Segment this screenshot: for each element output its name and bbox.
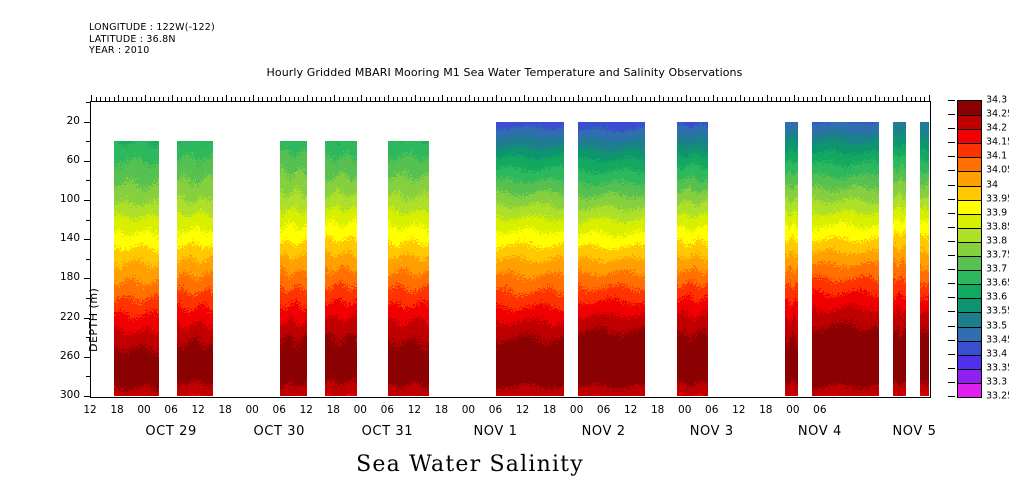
colorbar-tick: [948, 213, 955, 214]
x-tick: [208, 97, 209, 102]
x-tick: [348, 97, 349, 102]
colorbar-separator: [958, 355, 981, 356]
colorbar-label: 33.4: [986, 348, 1007, 359]
x-tick: [294, 97, 295, 102]
x-tick: [717, 97, 718, 102]
x-tick: [438, 97, 439, 102]
x-tick: [681, 97, 682, 102]
x-tick: [762, 97, 763, 102]
x-tick: [271, 97, 272, 102]
colorbar-band: [958, 369, 981, 384]
x-tick: [226, 95, 227, 102]
colorbar-tick: [948, 297, 955, 298]
x-tick: [645, 97, 646, 102]
x-tick: [415, 95, 416, 102]
colorbar-label: 34.1: [986, 151, 1007, 162]
colorbar-band: [958, 312, 981, 327]
x-tick: [501, 97, 502, 102]
y-tick: [86, 220, 91, 221]
x-tick: [875, 95, 876, 102]
x-tick: [330, 97, 331, 102]
colorbar-band: [958, 341, 981, 356]
x-tick: [789, 97, 790, 102]
x-tick: [249, 97, 250, 102]
x-tick: [285, 97, 286, 102]
y-tick: [84, 122, 91, 123]
colorbar-band: [958, 284, 981, 299]
y-tick: [86, 102, 91, 103]
y-axis-label: 180: [46, 271, 80, 283]
x-axis-hour-label: 00: [462, 404, 475, 416]
colorbar-label: 34.15: [986, 137, 1009, 148]
colorbar-band: [958, 200, 981, 215]
colorbar-tick: [948, 269, 955, 270]
x-axis-hour-label: 18: [218, 404, 231, 416]
x-tick: [821, 95, 822, 102]
x-tick: [920, 97, 921, 102]
x-tick: [451, 97, 452, 102]
x-tick: [141, 97, 142, 102]
x-tick: [600, 97, 601, 102]
x-tick: [596, 97, 597, 102]
x-tick: [614, 97, 615, 102]
colorbar-separator: [958, 341, 981, 342]
x-axis-hour-label: 00: [678, 404, 691, 416]
x-tick: [253, 95, 254, 102]
x-tick: [740, 95, 741, 102]
x-tick: [794, 95, 795, 102]
x-tick: [924, 97, 925, 102]
x-tick: [897, 97, 898, 102]
colorbar-label: 33.85: [986, 221, 1009, 232]
salinity-heatmap: [91, 102, 929, 396]
colorbar-separator: [958, 369, 981, 370]
colorbar-separator: [958, 270, 981, 271]
x-tick: [560, 97, 561, 102]
x-axis-date-label: NOV 4: [798, 424, 842, 439]
x-tick: [447, 97, 448, 102]
colorbar-band: [958, 256, 981, 271]
y-tick: [86, 180, 91, 181]
x-axis-date-label: NOV 2: [582, 424, 626, 439]
y-axis-label: 100: [46, 193, 80, 205]
x-tick: [915, 97, 916, 102]
colorbar-tick: [948, 241, 955, 242]
x-tick: [888, 97, 889, 102]
x-tick: [758, 97, 759, 102]
x-tick: [231, 97, 232, 102]
x-tick: [312, 97, 313, 102]
x-tick: [780, 97, 781, 102]
year-text: YEAR : 2010: [89, 45, 150, 56]
colorbar-band: [958, 157, 981, 172]
x-axis-hour-label: 06: [273, 404, 286, 416]
chart-title: Hourly Gridded MBARI Mooring M1 Sea Wate…: [0, 66, 1009, 79]
x-axis-hour-label: 06: [597, 404, 610, 416]
x-tick: [564, 97, 565, 102]
x-tick: [379, 97, 380, 102]
x-tick: [893, 97, 894, 102]
x-tick: [555, 97, 556, 102]
x-axis-hour-label: 18: [327, 404, 340, 416]
x-tick: [776, 97, 777, 102]
y-tick: [84, 278, 91, 279]
x-tick: [542, 97, 543, 102]
x-tick: [397, 97, 398, 102]
x-tick: [244, 97, 245, 102]
x-tick: [839, 97, 840, 102]
x-tick: [618, 97, 619, 102]
colorbar-separator: [958, 312, 981, 313]
x-axis-hour-label: 12: [191, 404, 204, 416]
colorbar-label: 33.6: [986, 292, 1007, 303]
x-tick: [654, 97, 655, 102]
heatmap-canvas-wrap: [91, 102, 929, 396]
x-axis-hour-label: 12: [408, 404, 421, 416]
x-axis-hour-label: 12: [300, 404, 313, 416]
x-tick: [735, 97, 736, 102]
y-tick: [84, 239, 91, 240]
x-tick: [591, 97, 592, 102]
colorbar-label: 34: [986, 179, 998, 190]
x-tick: [114, 97, 115, 102]
x-tick: [478, 97, 479, 102]
x-tick: [830, 97, 831, 102]
x-tick: [866, 97, 867, 102]
colorbar-label: 33.8: [986, 235, 1007, 246]
x-axis-hour-label: 06: [381, 404, 394, 416]
x-tick: [186, 97, 187, 102]
colorbar-label: 33.95: [986, 193, 1009, 204]
x-tick: [258, 97, 259, 102]
y-tick: [86, 141, 91, 142]
x-tick: [659, 95, 660, 102]
colorbar-tick: [948, 114, 955, 115]
x-tick: [605, 95, 606, 102]
y-axis-label: 140: [46, 232, 80, 244]
x-tick: [569, 97, 570, 102]
x-tick: [429, 97, 430, 102]
y-axis-label: 260: [46, 350, 80, 362]
colorbar-separator: [958, 200, 981, 201]
x-tick: [222, 97, 223, 102]
x-tick: [357, 97, 358, 102]
x-tick: [109, 97, 110, 102]
colorbar-tick: [948, 185, 955, 186]
x-tick: [510, 97, 511, 102]
x-tick: [424, 97, 425, 102]
colorbar-label: 33.35: [986, 362, 1009, 373]
x-tick: [627, 97, 628, 102]
x-tick: [505, 97, 506, 102]
colorbar-separator: [958, 228, 981, 229]
colorbar-band: [958, 270, 981, 285]
colorbar-label: 33.25: [986, 391, 1009, 402]
x-tick: [132, 97, 133, 102]
x-tick: [726, 97, 727, 102]
x-tick: [105, 97, 106, 102]
y-axis-label: 20: [46, 115, 80, 127]
x-tick: [483, 97, 484, 102]
y-tick: [84, 357, 91, 358]
y-tick: [86, 337, 91, 338]
x-axis-date-label: NOV 3: [690, 424, 734, 439]
colorbar-tick: [948, 354, 955, 355]
colorbar-band: [958, 228, 981, 243]
x-tick: [100, 97, 101, 102]
colorbar-label: 33.55: [986, 306, 1009, 317]
colorbar-band: [958, 383, 981, 398]
x-tick: [303, 97, 304, 102]
colorbar-tick: [948, 100, 955, 101]
colorbar-tick: [948, 255, 955, 256]
y-tick: [86, 259, 91, 260]
x-axis-hour-label: 00: [786, 404, 799, 416]
x-tick: [785, 97, 786, 102]
x-tick: [154, 97, 155, 102]
y-tick: [86, 298, 91, 299]
colorbar-band: [958, 186, 981, 201]
x-tick: [465, 97, 466, 102]
x-tick: [118, 95, 119, 102]
x-tick: [708, 97, 709, 102]
x-axis-hour-label: 18: [435, 404, 448, 416]
colorbar-tick: [948, 326, 955, 327]
x-tick: [636, 97, 637, 102]
y-tick: [84, 200, 91, 201]
x-tick: [366, 97, 367, 102]
x-tick: [235, 97, 236, 102]
x-tick: [767, 95, 768, 102]
x-axis-date-label: NOV 5: [892, 424, 936, 439]
x-tick: [911, 97, 912, 102]
x-tick: [163, 97, 164, 102]
colorbar-band: [958, 129, 981, 144]
x-tick: [370, 97, 371, 102]
x-tick: [168, 97, 169, 102]
colorbar-separator: [958, 171, 981, 172]
x-axis-hour-label: 06: [489, 404, 502, 416]
x-tick: [276, 97, 277, 102]
colorbar-label: 33.3: [986, 376, 1007, 387]
x-tick: [587, 97, 588, 102]
x-tick: [848, 95, 849, 102]
colorbar-band: [958, 115, 981, 130]
colorbar-tick: [948, 396, 955, 397]
x-axis-hour-label: 00: [137, 404, 150, 416]
x-axis-hour-label: 12: [624, 404, 637, 416]
x-tick: [546, 97, 547, 102]
x-tick: [623, 97, 624, 102]
y-tick: [86, 376, 91, 377]
x-axis-hour-label: 18: [651, 404, 664, 416]
colorbar-band: [958, 214, 981, 229]
colorbar-label: 33.65: [986, 278, 1009, 289]
x-tick: [420, 97, 421, 102]
x-tick: [262, 97, 263, 102]
x-tick: [195, 97, 196, 102]
x-tick: [406, 97, 407, 102]
colorbar-tick: [948, 170, 955, 171]
x-tick: [753, 97, 754, 102]
colorbar-band: [958, 143, 981, 158]
x-tick: [713, 95, 714, 102]
colorbar-separator: [958, 157, 981, 158]
x-tick: [879, 97, 880, 102]
x-tick: [469, 95, 470, 102]
x-tick: [433, 97, 434, 102]
x-tick: [578, 95, 579, 102]
x-tick: [704, 97, 705, 102]
colorbar-tick: [948, 382, 955, 383]
colorbar-label: 34.05: [986, 165, 1009, 176]
x-tick: [325, 97, 326, 102]
colorbar-band: [958, 355, 981, 370]
x-tick: [731, 97, 732, 102]
colorbar-separator: [958, 256, 981, 257]
x-tick: [487, 97, 488, 102]
x-tick: [127, 97, 128, 102]
x-tick: [722, 97, 723, 102]
x-tick: [816, 97, 817, 102]
x-tick: [361, 95, 362, 102]
x-tick: [492, 97, 493, 102]
y-axis-label: 60: [46, 154, 80, 166]
x-tick: [834, 97, 835, 102]
colorbar-separator: [958, 383, 981, 384]
colorbar-tick: [948, 128, 955, 129]
y-tick: [84, 318, 91, 319]
x-tick: [384, 97, 385, 102]
x-tick: [771, 97, 772, 102]
x-tick: [91, 95, 92, 102]
x-axis-date-label: OCT 30: [253, 424, 305, 439]
x-axis-hour-label: 06: [705, 404, 718, 416]
colorbar-tick: [948, 227, 955, 228]
x-tick: [460, 97, 461, 102]
colorbar: [957, 100, 982, 398]
colorbar-separator: [958, 129, 981, 130]
x-axis-hour-label: 06: [813, 404, 826, 416]
x-tick: [375, 97, 376, 102]
colorbar-label: 34.3: [986, 95, 1007, 106]
colorbar-tick: [948, 368, 955, 369]
x-tick: [870, 97, 871, 102]
x-axis-hour-label: 12: [83, 404, 96, 416]
x-tick: [181, 97, 182, 102]
x-axis-hour-label: 06: [164, 404, 177, 416]
x-tick: [825, 97, 826, 102]
x-tick: [352, 97, 353, 102]
x-axis-hour-label: 00: [354, 404, 367, 416]
x-tick: [641, 97, 642, 102]
colorbar-separator: [958, 186, 981, 187]
colorbar-tick: [948, 156, 955, 157]
x-tick: [402, 97, 403, 102]
x-tick: [929, 95, 930, 102]
x-tick: [843, 97, 844, 102]
x-tick: [411, 97, 412, 102]
x-axis-hour-label: 12: [732, 404, 745, 416]
colorbar-band: [958, 298, 981, 313]
colorbar-band: [958, 327, 981, 342]
x-tick: [96, 97, 97, 102]
x-tick: [668, 97, 669, 102]
x-tick: [321, 97, 322, 102]
x-tick: [902, 95, 903, 102]
x-axis-date-label: OCT 31: [362, 424, 414, 439]
longitude-text: LONGITUDE : 122W(-122): [89, 22, 215, 33]
x-tick: [803, 97, 804, 102]
x-tick: [145, 95, 146, 102]
x-tick: [677, 97, 678, 102]
x-tick: [650, 97, 651, 102]
x-tick: [857, 97, 858, 102]
x-tick: [533, 97, 534, 102]
x-tick: [136, 97, 137, 102]
colorbar-separator: [958, 115, 981, 116]
x-tick: [852, 97, 853, 102]
x-tick: [884, 97, 885, 102]
x-tick: [906, 97, 907, 102]
x-tick: [749, 97, 750, 102]
colorbar-label: 33.7: [986, 264, 1007, 275]
x-axis-hour-label: 00: [246, 404, 259, 416]
x-axis-date-label: NOV 1: [473, 424, 517, 439]
x-tick: [515, 97, 516, 102]
x-axis-hour-label: 12: [516, 404, 529, 416]
colorbar-label: 34.2: [986, 123, 1007, 134]
x-tick: [280, 95, 281, 102]
colorbar-label: 33.75: [986, 250, 1009, 261]
plot-area: DEPTH (m): [90, 101, 931, 398]
colorbar-tick: [948, 199, 955, 200]
x-tick: [177, 97, 178, 102]
x-tick: [573, 97, 574, 102]
colorbar-band: [958, 242, 981, 257]
x-tick: [150, 97, 151, 102]
y-axis-label: 220: [46, 311, 80, 323]
colorbar-separator: [958, 298, 981, 299]
y-tick: [84, 396, 91, 397]
x-tick: [524, 95, 525, 102]
x-tick: [861, 97, 862, 102]
x-tick: [204, 97, 205, 102]
colorbar-separator: [958, 284, 981, 285]
colorbar-label: 33.45: [986, 334, 1009, 345]
colorbar-separator: [958, 214, 981, 215]
station-metadata: LONGITUDE : 122W(-122) LATITUDE : 36.8N …: [89, 22, 215, 57]
x-tick: [388, 95, 389, 102]
colorbar-separator: [958, 143, 981, 144]
x-tick: [537, 97, 538, 102]
x-tick: [199, 95, 200, 102]
x-tick: [582, 97, 583, 102]
x-tick: [663, 97, 664, 102]
x-tick: [812, 97, 813, 102]
x-tick: [123, 97, 124, 102]
colorbar-label: 34.25: [986, 109, 1009, 120]
x-tick: [609, 97, 610, 102]
x-tick: [798, 97, 799, 102]
x-tick: [551, 95, 552, 102]
colorbar-tick: [948, 142, 955, 143]
x-axis-date-label: OCT 29: [145, 424, 197, 439]
y-axis-label: 300: [46, 389, 80, 401]
x-tick: [695, 97, 696, 102]
x-tick: [393, 97, 394, 102]
x-tick: [519, 97, 520, 102]
